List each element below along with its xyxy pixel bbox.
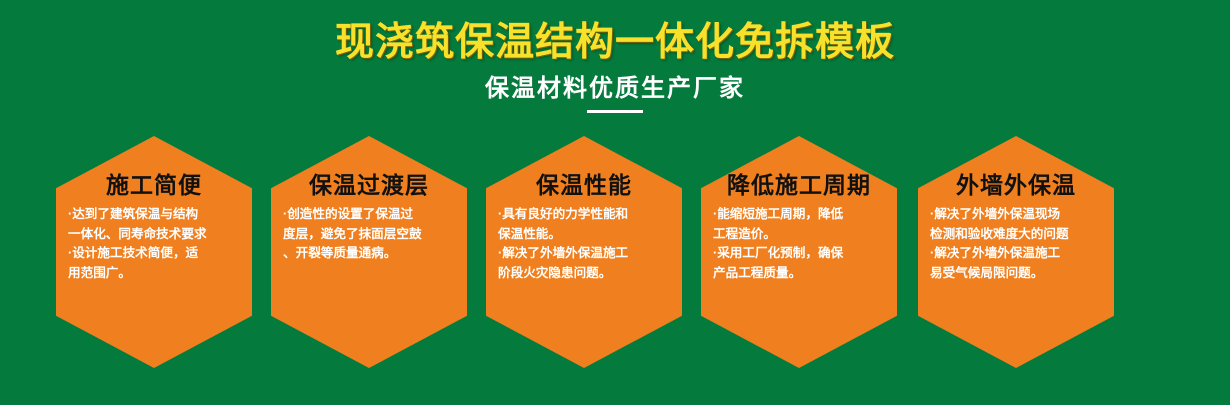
feature-content: 保温性能 ·具有良好的力学性能和 保温性能。 ·解决了外墙外保温施工 阶段火灾隐…	[486, 172, 682, 283]
feature-line: 检测和验收难度大的问题	[930, 225, 1106, 245]
feature-title: 施工简便	[62, 172, 246, 199]
feature-line: 、开裂等质量通病。	[283, 244, 459, 264]
feature-line: 工程造价。	[713, 225, 889, 245]
feature-line: 阶段火灾隐患问题。	[498, 264, 674, 284]
feature-line: 产品工程质量。	[713, 264, 889, 284]
feature-line: 用范围广。	[68, 264, 244, 284]
feature-line: 易受气候局限问题。	[930, 264, 1106, 284]
feature-line: ·达到了建筑保温与结构	[68, 205, 244, 225]
feature-line: ·采用工厂化预制，确保	[713, 244, 889, 264]
feature-line: 一体化、同寿命技术要求	[68, 225, 244, 245]
feature-content: 保温过渡层 ·创造性的设置了保温过 度层，避免了抹面层空鼓 、开裂等质量通病。	[271, 172, 467, 264]
feature-line: ·设计施工技术简便，适	[68, 244, 244, 264]
feature-title: 外墙外保温	[924, 172, 1108, 199]
feature-title: 保温性能	[492, 172, 676, 199]
promo-banner: 现浇筑保温结构一体化免拆模板 保温材料优质生产厂家 施工简便 ·达到了建筑保温与…	[0, 0, 1230, 405]
feature-body: ·创造性的设置了保温过 度层，避免了抹面层空鼓 、开裂等质量通病。	[277, 205, 461, 264]
feature-line: ·创造性的设置了保温过	[283, 205, 459, 225]
feature-line: ·解决了外墙外保温施工	[498, 244, 674, 264]
feature-hexagon-3[interactable]: 保温性能 ·具有良好的力学性能和 保温性能。 ·解决了外墙外保温施工 阶段火灾隐…	[486, 136, 682, 368]
feature-content: 施工简便 ·达到了建筑保温与结构 一体化、同寿命技术要求 ·设计施工技术简便，适…	[56, 172, 252, 283]
feature-line: ·具有良好的力学性能和	[498, 205, 674, 225]
feature-body: ·具有良好的力学性能和 保温性能。 ·解决了外墙外保温施工 阶段火灾隐患问题。	[492, 205, 676, 283]
feature-body: ·解决了外墙外保温现场 检测和验收难度大的问题 ·解决了外墙外保温施工 易受气候…	[924, 205, 1108, 283]
feature-title: 降低施工周期	[707, 172, 891, 199]
feature-hexagon-4[interactable]: 降低施工周期 ·能缩短施工周期，降低 工程造价。 ·采用工厂化预制，确保 产品工…	[701, 136, 897, 368]
feature-content: 外墙外保温 ·解决了外墙外保温现场 检测和验收难度大的问题 ·解决了外墙外保温施…	[918, 172, 1114, 283]
feature-body: ·能缩短施工周期，降低 工程造价。 ·采用工厂化预制，确保 产品工程质量。	[707, 205, 891, 283]
feature-hexagon-5[interactable]: 外墙外保温 ·解决了外墙外保温现场 检测和验收难度大的问题 ·解决了外墙外保温施…	[918, 136, 1114, 368]
feature-line: 度层，避免了抹面层空鼓	[283, 225, 459, 245]
feature-line: ·解决了外墙外保温施工	[930, 244, 1106, 264]
feature-line: ·能缩短施工周期，降低	[713, 205, 889, 225]
feature-title: 保温过渡层	[277, 172, 461, 199]
feature-body: ·达到了建筑保温与结构 一体化、同寿命技术要求 ·设计施工技术简便，适 用范围广…	[62, 205, 246, 283]
feature-content: 降低施工周期 ·能缩短施工周期，降低 工程造价。 ·采用工厂化预制，确保 产品工…	[701, 172, 897, 283]
feature-line: ·解决了外墙外保温现场	[930, 205, 1106, 225]
feature-hexagon-2[interactable]: 保温过渡层 ·创造性的设置了保温过 度层，避免了抹面层空鼓 、开裂等质量通病。	[271, 136, 467, 368]
feature-hexagon-row: 施工简便 ·达到了建筑保温与结构 一体化、同寿命技术要求 ·设计施工技术简便，适…	[0, 0, 1230, 405]
feature-line: 保温性能。	[498, 225, 674, 245]
feature-hexagon-1[interactable]: 施工简便 ·达到了建筑保温与结构 一体化、同寿命技术要求 ·设计施工技术简便，适…	[56, 136, 252, 368]
